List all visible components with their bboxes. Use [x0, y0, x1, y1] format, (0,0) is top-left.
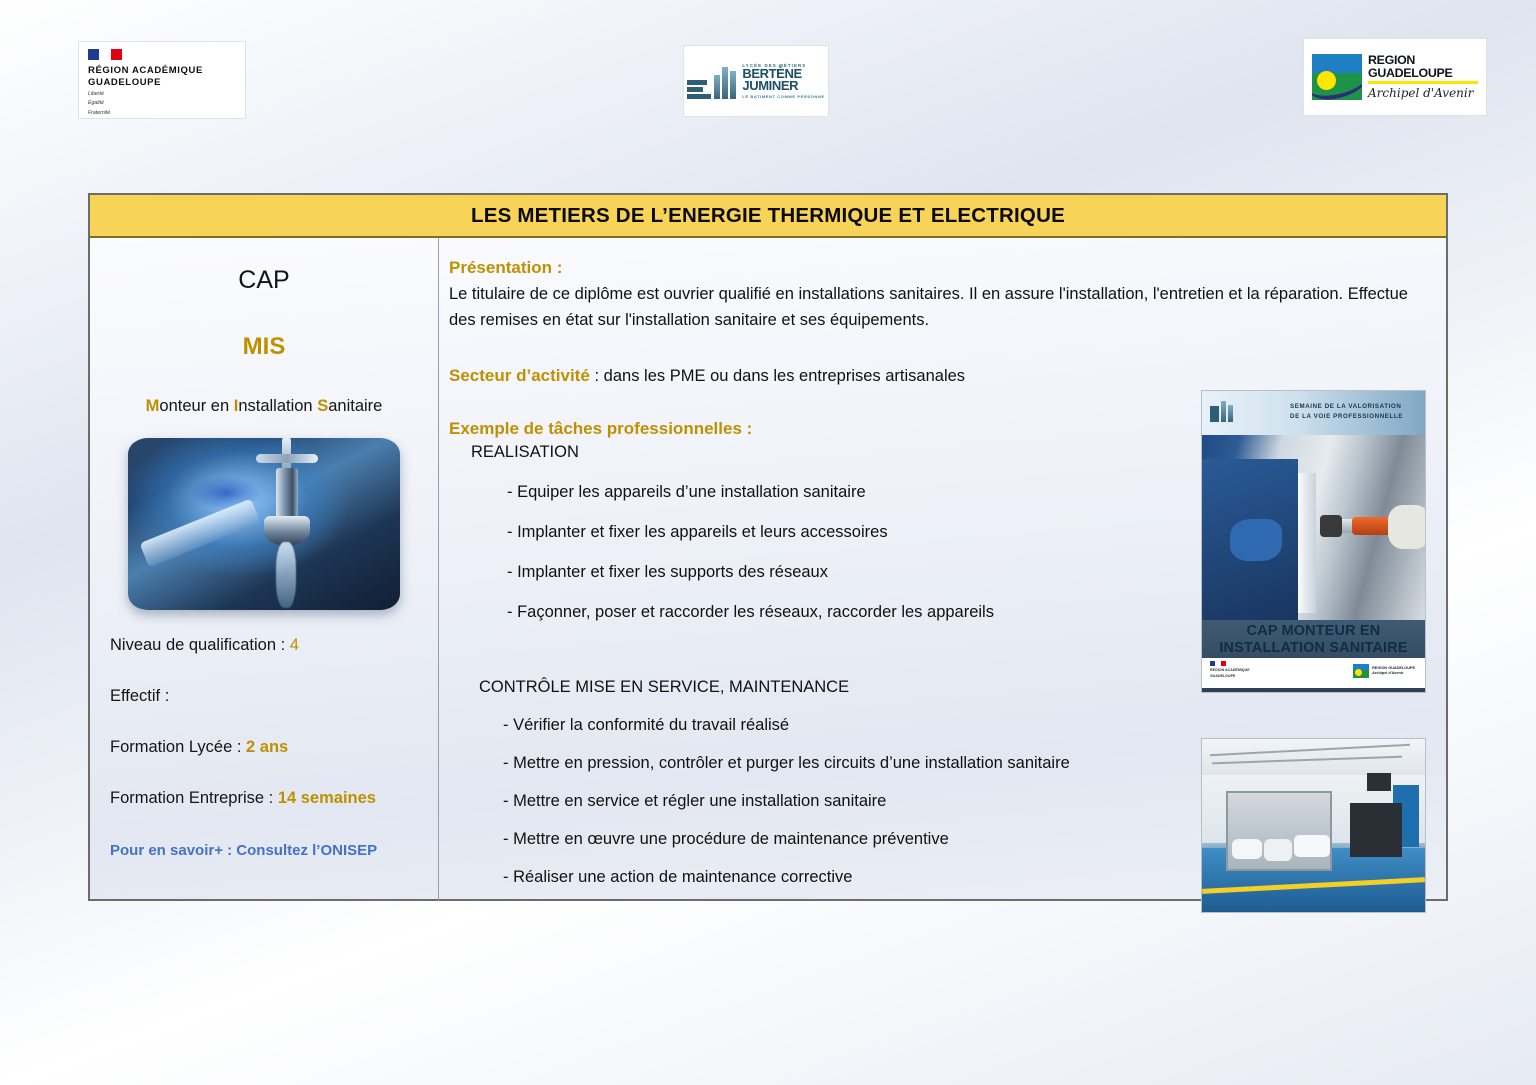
left-panel: CAP MIS Monteur en Installation Sanitair… — [90, 238, 439, 901]
header-logos: RÉGION ACADÉMIQUE GUADELOUPE Liberté Éga… — [0, 0, 1536, 160]
task-item: - Vérifier la conformité du travail réal… — [503, 716, 1446, 735]
academie-line-2: GUADELOUPE — [88, 77, 236, 89]
right-panel: Présentation : Le titulaire de ce diplôm… — [439, 238, 1446, 901]
logo-region-academique-guadeloupe: RÉGION ACADÉMIQUE GUADELOUPE Liberté Éga… — [78, 41, 246, 119]
presentation-text: Le titulaire de ce diplôme est ouvrier q… — [449, 281, 1429, 333]
poster-foot-right-2: Archipel d'Avenir — [1372, 671, 1415, 676]
region-name: REGION GUADELOUPE — [1368, 54, 1478, 80]
poster-guadeloupe-emblem-icon — [1353, 664, 1369, 678]
detail-label-3: Formation Entreprise : — [110, 789, 278, 807]
full-name-part-1: onteur en — [159, 397, 233, 415]
diploma-full-name: Monteur en Installation Sanitaire — [100, 397, 428, 416]
devise-egalite: Égalité — [88, 100, 236, 106]
poster-slogan-line-2: DE LA VOIE PROFESSIONNELLE — [1290, 412, 1403, 422]
full-name-part-2: nstallation — [238, 397, 317, 415]
french-flag-icon — [88, 49, 122, 60]
poster-photo-plumbing — [1202, 435, 1425, 620]
main-content-card: LES METIERS DE L’ENERGIE THERMIQUE ET EL… — [88, 193, 1448, 901]
sector-line: Secteur d’activité : dans les PME ou dan… — [449, 366, 1439, 386]
full-name-part-3: anitaire — [328, 397, 382, 415]
building-towers-icon — [714, 67, 736, 99]
detail-value-2: 2 ans — [246, 738, 288, 756]
presentation-label: Présentation : — [449, 258, 1439, 278]
poster-title: CAP MONTEUR EN INSTALLATION SANITAIRE — [1202, 623, 1425, 657]
devise-liberte: Liberté — [88, 91, 236, 97]
poster-slogan-line-1: SEMAINE DE LA VALORISATION — [1290, 402, 1403, 412]
detail-value-0: 4 — [290, 636, 299, 654]
workshop-photo — [1201, 738, 1426, 913]
card-body: CAP MIS Monteur en Installation Sanitair… — [90, 238, 1446, 901]
academie-line-1: RÉGION ACADÉMIQUE — [88, 65, 236, 77]
poster-foot-left-1: RÉGION ACADÉMIQUE — [1210, 668, 1250, 672]
building-bars-icon — [687, 80, 711, 99]
detail-formation-lycee: Formation Lycée : 2 ans — [110, 738, 428, 757]
region-slogan: Archipel d'Avenir — [1368, 86, 1478, 100]
region-rule — [1368, 81, 1478, 84]
detail-value-3: 14 semaines — [278, 789, 376, 807]
detail-label-2: Formation Lycée : — [110, 738, 246, 756]
detail-effectif: Effectif : — [110, 687, 428, 706]
poster-french-flag-icon — [1210, 661, 1226, 666]
guadeloupe-emblem-icon — [1312, 54, 1362, 100]
poster-footer-logos: RÉGION ACADÉMIQUE GUADELOUPE REGION GUAD… — [1202, 658, 1425, 688]
initial-m: M — [146, 397, 160, 415]
onisep-link[interactable]: Pour en savoir+ : Consultez l’ONISEP — [110, 842, 428, 859]
initial-s: S — [317, 397, 328, 415]
logo-region-guadeloupe: REGION GUADELOUPE Archipel d'Avenir — [1303, 38, 1487, 116]
poster-title-line-1: CAP MONTEUR EN — [1202, 623, 1425, 640]
poster-slogan: SEMAINE DE LA VALORISATION DE LA VOIE PR… — [1290, 402, 1403, 422]
lycee-tagline: LE BATIMENT COMME PERSONNE — [742, 94, 824, 99]
poster-title-line-2: INSTALLATION SANITAIRE — [1202, 640, 1425, 657]
diploma-abbreviation: MIS — [100, 333, 428, 361]
poster-foot-left-2: GUADELOUPE — [1210, 674, 1250, 678]
detail-niveau-qualification: Niveau de qualification : 4 — [110, 636, 428, 655]
page-title: LES METIERS DE L’ENERGIE THERMIQUE ET EL… — [90, 195, 1446, 238]
sector-label: Secteur d’activité — [449, 366, 595, 385]
devise-fraternite: Fraternité — [88, 110, 236, 116]
logo-lycee-bertene-juminer: LYCÉE DES MÉTIERS BERTÈNE JUMINER LE BAT… — [683, 45, 829, 117]
faucet-illustration-image — [128, 438, 400, 610]
lycee-name-2: JUMINER — [742, 80, 824, 92]
detail-formation-entreprise: Formation Entreprise : 14 semaines — [110, 789, 428, 808]
detail-label-1: Effectif : — [110, 687, 169, 705]
detail-label-0: Niveau de qualification : — [110, 636, 290, 654]
diploma-level: CAP — [100, 266, 428, 295]
sector-text: : dans les PME ou dans les entreprises a… — [595, 367, 966, 385]
poster-lycee-logo-icon — [1210, 401, 1233, 422]
poster-image-cap-monteur: SEMAINE DE LA VALORISATION DE LA VOIE PR… — [1201, 390, 1426, 693]
